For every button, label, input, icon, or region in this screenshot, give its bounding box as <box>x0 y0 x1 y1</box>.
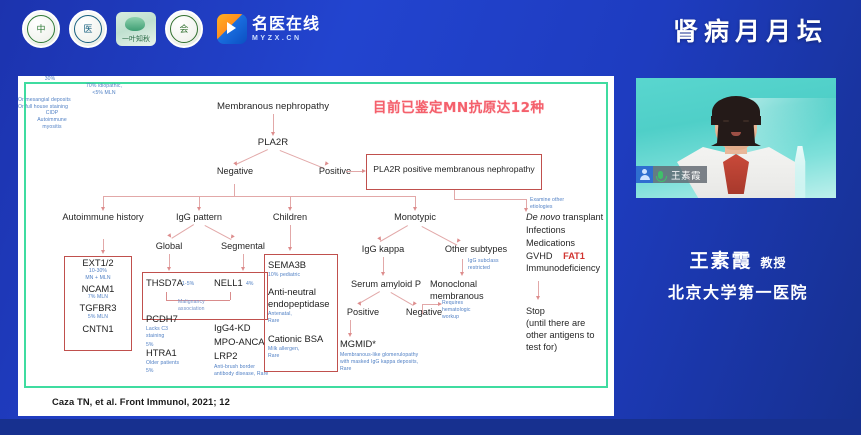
de-novo-italic: De novo <box>526 212 560 222</box>
arrowhead <box>536 296 540 300</box>
arrowhead <box>197 207 201 211</box>
gene-cationic-bsa-note: Milk allergen, Rare <box>268 346 299 360</box>
arrowhead <box>288 247 292 251</box>
transplant-suffix: transplant <box>560 212 603 222</box>
org-logo-1-label: 中 <box>27 15 55 43</box>
item-gvhd-label: GVHD <box>526 251 553 261</box>
node-pla2r-positive-mn: PLA2R positive membranous nephropathy <box>368 164 540 174</box>
bracket-left <box>166 292 167 300</box>
node-other-subtypes-sub: IgG subclass restricted <box>468 258 499 272</box>
node-other-subtypes: Other subtypes <box>430 244 522 255</box>
node-mgmid: MGMID* <box>340 339 376 349</box>
gene-igg4-kd: IgG4-KD <box>214 323 250 333</box>
label-malignancy-association: Malignancy association <box>178 299 205 313</box>
gene-ncam1: NCAM1 <box>64 284 132 294</box>
node-pla2r-positive-sub: 70% idiopathic, <5% MLN <box>18 83 190 97</box>
bottom-strip <box>0 419 861 435</box>
top-logo-bar: 中 医 一叶知秋 会 名医在线 MYZX.CN 肾病月月坛 <box>0 0 861 66</box>
item-immunodeficiency: Immunodeficiency <box>526 263 616 274</box>
edge-pla2r-negative <box>235 149 268 165</box>
gene-pcdh7-note: Lacks C3 staining <box>146 326 168 340</box>
gene-anti-neutral-endopeptidase-note: Antenatal, Rare <box>268 311 292 325</box>
edge-pla2rbox-down <box>454 190 455 199</box>
slide-citation: Caza TN, et al. Front Immunol, 2021; 12 <box>52 396 230 407</box>
slide-headline-cn: 目前已鉴定MN抗原达12种 <box>373 96 545 116</box>
edge-global-down <box>169 254 170 268</box>
gene-tgfbr3-note: 5% MLN <box>64 314 132 321</box>
arrowhead <box>460 272 464 276</box>
gene-ncam1-note: 7% MLN <box>64 294 132 301</box>
edge-monotypic-iggkappa <box>380 225 408 242</box>
item-medications: Medications <box>526 238 616 249</box>
participant-name: 王素霞 <box>671 168 701 182</box>
node-pla2r: PLA2R <box>238 137 308 148</box>
gene-htra1-pct: 5% <box>146 368 154 375</box>
node-monoclonal-membranous: Monoclonal membranous <box>430 279 516 302</box>
speaker-name-line: 王素霞教授 <box>636 246 840 273</box>
node-negative: Negative <box>203 166 267 177</box>
gene-tgfbr3: TGFBR3 <box>64 303 132 313</box>
arrowhead <box>167 267 171 271</box>
node-segmental: Segmental <box>210 241 276 252</box>
edge-negative-down <box>234 184 235 196</box>
node-autoimmune-history: Autoimmune history <box>40 212 166 223</box>
arrowhead <box>241 267 245 271</box>
node-negative-sub: 30% <box>18 76 82 83</box>
node-children: Children <box>254 212 326 223</box>
broadcast-stage: 中 医 一叶知秋 会 名医在线 MYZX.CN 肾病月月坛 <box>0 0 861 435</box>
node-igg-kappa: IgG kappa <box>348 244 418 255</box>
arrowhead <box>271 132 275 136</box>
node-monotypic: Monotypic <box>374 212 456 223</box>
myzx-brand-logo: 名医在线 MYZX.CN <box>217 14 320 44</box>
edge-root-to-pla2r <box>273 114 274 133</box>
edge-children-down <box>290 225 291 248</box>
bracket-right <box>230 292 231 300</box>
gene-cntn1-note: CIDP Autoimmune myositis <box>18 110 86 131</box>
edge-monotypic-other <box>422 226 458 246</box>
arrowhead <box>411 301 417 307</box>
gene-pcdh7: PCDH7 <box>146 314 178 324</box>
node-monoclonal-sub: Requires hematologic workup <box>442 300 471 321</box>
play-triangle-icon <box>217 14 247 44</box>
person-icon <box>636 166 653 183</box>
speaker-figure <box>677 102 795 198</box>
item-gvhd: GVHD FAT1 <box>526 251 616 262</box>
participant-name-badge: 王素霞 <box>636 166 707 183</box>
arrowhead <box>348 333 352 337</box>
hair-top <box>712 96 760 128</box>
node-serum-amyloid-p: Serum amyloid P <box>340 279 432 290</box>
gene-anti-neutral-endopeptidase: Anti-neutral endopeptidase <box>268 286 330 310</box>
gene-sema3b-note: 10% pediatric <box>268 272 300 279</box>
brand-name-cn: 名医在线 <box>252 17 320 33</box>
gene-cationic-bsa: Cationic BSA <box>268 334 323 344</box>
node-mgmid-sub: Membranous-like glomerulopathy with mask… <box>340 352 418 373</box>
program-title: 肾病月月坛 <box>673 12 828 48</box>
gene-nell1-pct: 4% <box>246 281 254 288</box>
node-stop: Stop <box>526 306 612 317</box>
transplant-etiology-list: De novo transplant Infections Medication… <box>526 212 616 274</box>
gene-htra1: HTRA1 <box>146 348 177 358</box>
gene-lrp2: LRP2 <box>214 351 237 361</box>
org-logo-4-label: 会 <box>170 15 198 43</box>
speaker-rank: 教授 <box>761 256 787 270</box>
speaker-info-block: 王素霞教授 北京大学第一医院 <box>636 246 840 303</box>
edge-pla2rbox-right <box>454 199 526 200</box>
eye-right <box>743 120 749 122</box>
org-logo-2-icon: 医 <box>69 10 107 48</box>
edge-igg-segmental <box>205 225 232 240</box>
arrowhead <box>455 238 461 244</box>
org-logo-3-label: 一叶知秋 <box>122 34 150 44</box>
autoimmune-antigen-list: EXT1/2 10-30% MN + MLN NCAM1 7% MLN TGFB… <box>64 258 132 334</box>
node-igg-pattern: IgG pattern <box>154 212 244 223</box>
gene-htra1-note: Older patients <box>146 360 179 367</box>
edge-other-down <box>462 259 463 273</box>
node-sap-positive: Positive <box>336 307 390 318</box>
edge-segmental-down <box>243 254 244 268</box>
arrowhead <box>288 207 292 211</box>
org-logo-2-label: 医 <box>74 15 102 43</box>
node-membranous-nephropathy: Membranous nephropathy <box>208 101 338 112</box>
item-de-novo-transplant: De novo transplant <box>526 212 616 223</box>
edge-negative-riser <box>422 304 423 314</box>
gene-thsd7a: THSD7A <box>146 278 183 288</box>
gene-nell1: NELL1 <box>214 278 243 288</box>
org-logo-4-icon: 会 <box>165 10 203 48</box>
arrowhead <box>101 250 105 254</box>
gene-sema3b: SEMA3B <box>268 260 306 270</box>
gene-cntn1: CNTN1 <box>64 324 132 334</box>
node-global: Global <box>140 241 198 252</box>
arrowhead <box>413 207 417 211</box>
gene-ext1-2: EXT1/2 <box>64 258 132 268</box>
arrowhead <box>101 207 105 211</box>
edge-igg-global <box>171 224 194 239</box>
eye-left <box>723 120 729 122</box>
edge-sap-positive <box>359 291 380 304</box>
label-examine-other-etiologies: Examine other etiologies <box>530 197 564 211</box>
gene-ext1-2-note: 10-30% MN + MLN <box>64 268 132 282</box>
gene-mpo-anca: MPO-ANCA <box>214 337 265 347</box>
slide-content: 目前已鉴定MN抗原达12种 Membranous nephropathy PLA… <box>18 76 614 416</box>
brand-name-en: MYZX.CN <box>252 35 320 42</box>
edge-iggkappa-down <box>383 257 384 273</box>
speaker-name: 王素霞 <box>689 250 752 272</box>
arrowhead <box>381 272 385 276</box>
microphone-icon[interactable] <box>653 166 667 183</box>
org-logo-1-icon: 中 <box>22 10 60 48</box>
item-fat1-highlight: FAT1 <box>563 251 585 261</box>
gene-thsd7a-pct: 1-5% <box>182 281 194 288</box>
speaker-affiliation: 北京大学第一医院 <box>636 279 840 303</box>
sponsor-logo-row: 中 医 一叶知秋 会 名医在线 MYZX.CN <box>22 10 320 48</box>
org-logo-3-icon: 一叶知秋 <box>116 12 156 46</box>
item-infections: Infections <box>526 225 616 236</box>
edge-etiologies-to-stop <box>538 281 539 297</box>
gene-lrp2-note: Anti-brush border antibody disease, Rare <box>214 364 268 378</box>
node-stop-sub: (until there are other antigens to test … <box>526 318 616 354</box>
edge-positive-to-mgmid <box>350 320 351 334</box>
edge-bus-horizontal <box>103 196 415 197</box>
